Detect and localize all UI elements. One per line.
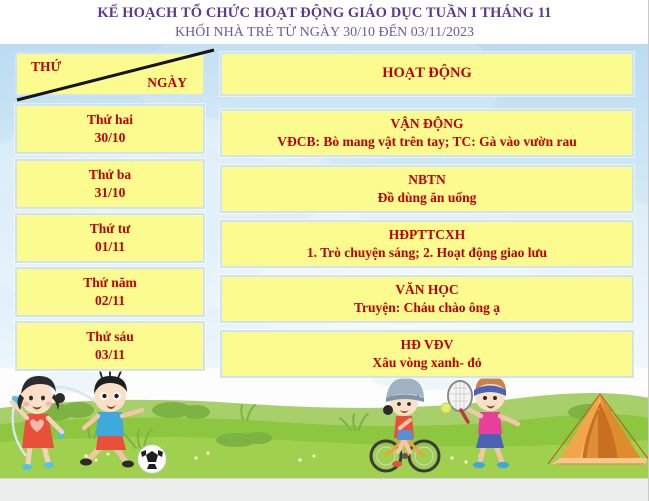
- title-block: KẾ HOẠCH TỔ CHỨC HOẠT ĐỘNG GIÁO DỤC TUẦN…: [0, 0, 649, 44]
- table-row: Thứ ba 31/10: [15, 159, 205, 209]
- table-row: NBTN Đồ dùng ăn uống: [220, 165, 634, 213]
- table-row: Thứ sáu 03/11: [15, 321, 205, 371]
- activity-detail: Xâu vòng xanh- đỏ: [372, 355, 481, 371]
- schedule-table: THỨ NGÀY HOẠT ĐỘNG Thứ hai 30/10 VẬN ĐỘN…: [0, 44, 649, 374]
- day-name: Thứ ba: [89, 167, 131, 183]
- bottom-strip: [0, 478, 649, 501]
- bottom-illustration: [0, 368, 649, 478]
- slide-page: KẾ HOẠCH TỔ CHỨC HOẠT ĐỘNG GIÁO DỤC TUẦN…: [0, 0, 649, 501]
- table-header-activity: HOẠT ĐỘNG: [220, 52, 634, 96]
- day-date: 02/11: [95, 293, 125, 309]
- table-row: Thứ hai 30/10: [15, 104, 205, 154]
- table-row: Thứ năm 02/11: [15, 267, 205, 317]
- corner-label-thu: THỨ: [31, 59, 61, 75]
- table-row: VẬN ĐỘNG VĐCB: Bò mang vật trên tay; TC:…: [220, 109, 634, 157]
- table-row: Thứ tư 01/11: [15, 213, 205, 263]
- activity-detail: VĐCB: Bò mang vật trên tay; TC: Gà vào v…: [277, 134, 577, 150]
- day-date: 31/10: [95, 185, 126, 201]
- table-row: HĐ VĐV Xâu vòng xanh- đỏ: [220, 330, 634, 378]
- day-date: 30/10: [95, 130, 126, 146]
- page-title: KẾ HOẠCH TỔ CHỨC HOẠT ĐỘNG GIÁO DỤC TUẦN…: [0, 0, 649, 23]
- activity-title: NBTN: [408, 172, 446, 188]
- day-name: Thứ sáu: [86, 329, 134, 345]
- day-name: Thứ hai: [87, 112, 133, 128]
- day-name: Thứ tư: [90, 221, 131, 237]
- activity-detail: Đồ dùng ăn uống: [378, 190, 477, 206]
- activity-title: VẬN ĐỘNG: [390, 116, 463, 132]
- corner-label-ngay: NGÀY: [147, 75, 187, 91]
- activity-title: VĂN HỌC: [395, 282, 458, 298]
- activity-detail: 1. Trò chuyện sáng; 2. Hoạt động giao lư…: [307, 245, 547, 261]
- table-corner-header: THỨ NGÀY: [15, 52, 205, 96]
- page-subtitle: KHỐI NHÀ TRẺ TỪ NGÀY 30/10 ĐẾN 03/11/202…: [0, 23, 649, 42]
- table-header-activity-label: HOẠT ĐỘNG: [382, 65, 472, 82]
- activity-title: HĐPTTCXH: [389, 227, 466, 243]
- activity-title: HĐ VĐV: [401, 337, 454, 353]
- table-row: HĐPTTCXH 1. Trò chuyện sáng; 2. Hoạt độn…: [220, 220, 634, 268]
- activity-detail: Truyện: Cháu chào ông ạ: [354, 300, 500, 316]
- day-name: Thứ năm: [83, 275, 137, 291]
- diagonal-divider-icon: [13, 48, 218, 104]
- soccer-ball: [138, 445, 166, 473]
- table-row: VĂN HỌC Truyện: Cháu chào ông ạ: [220, 275, 634, 323]
- day-date: 03/11: [95, 347, 125, 363]
- day-date: 01/11: [95, 239, 125, 255]
